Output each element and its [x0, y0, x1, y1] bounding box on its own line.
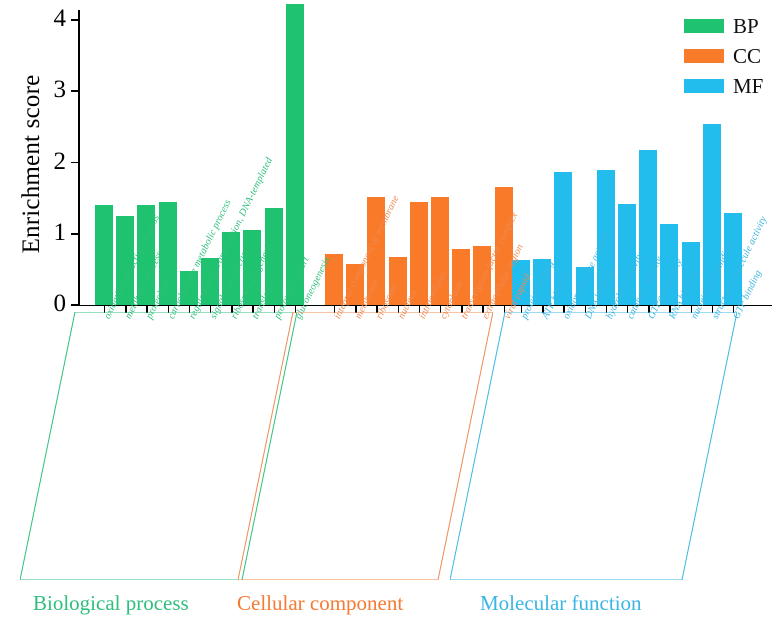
- group-caption-bp: Biological process: [33, 591, 189, 616]
- legend-label-cc: CC: [733, 46, 761, 67]
- legend-item-cc[interactable]: CC: [684, 43, 763, 69]
- y-tick-4: [71, 19, 78, 21]
- y-tick-2: [71, 162, 78, 164]
- y-tick-1: [71, 233, 78, 235]
- y-tick-label-3: 3: [36, 77, 66, 102]
- y-tick-3: [71, 90, 78, 92]
- legend-item-bp[interactable]: BP: [684, 13, 763, 39]
- legend: BPCCMF: [684, 13, 763, 103]
- bar-bp-0[interactable]: [95, 205, 113, 305]
- y-tick-label-2: 2: [36, 149, 66, 174]
- plot-area: [78, 10, 772, 305]
- legend-label-bp: BP: [733, 16, 759, 37]
- y-tick-0: [71, 304, 78, 306]
- legend-swatch-cc: [684, 49, 724, 63]
- group-caption-cc: Cellular component: [237, 591, 403, 616]
- legend-label-mf: MF: [733, 76, 763, 97]
- legend-item-mf[interactable]: MF: [684, 73, 763, 99]
- legend-swatch-bp: [684, 19, 724, 33]
- legend-swatch-mf: [684, 79, 724, 93]
- go-enrichment-bar-chart: Enrichment score 01234 oxidation-reducti…: [0, 0, 780, 623]
- group-bracket-mf: [450, 312, 737, 580]
- y-tick-label-1: 1: [36, 220, 66, 245]
- group-caption-mf: Molecular function: [480, 591, 642, 616]
- y-tick-label-4: 4: [36, 6, 66, 31]
